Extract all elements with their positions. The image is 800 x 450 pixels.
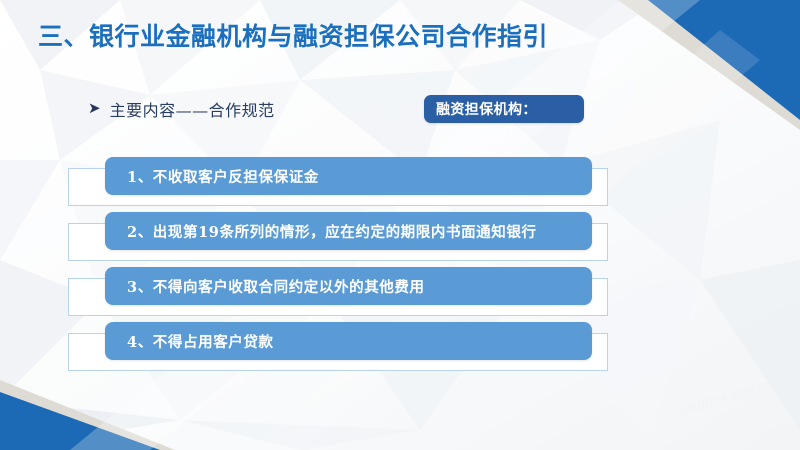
list-item[interactable]: 1、不收取客户反担保保证金	[68, 157, 608, 195]
list-item-label: 4、不得占用客户贷款	[127, 331, 274, 352]
item-list: 1、不收取客户反担保保证金 2、出现第19条所列的情形，应在约定的期限内书面通知…	[0, 0, 800, 450]
list-item-bar[interactable]: 2、出现第19条所列的情形，应在约定的期限内书面通知银行	[105, 212, 592, 250]
list-item-label: 1、不收取客户反担保保证金	[127, 166, 319, 187]
slide-canvas: 三、银行业金融机构与融资担保公司合作指引 ➤ 主要内容——合作规范 融资担保机构…	[0, 0, 800, 450]
list-item[interactable]: 3、不得向客户收取合同约定以外的其他费用	[68, 267, 608, 305]
list-item[interactable]: 4、不得占用客户贷款	[68, 322, 608, 360]
list-item-label: 2、出现第19条所列的情形，应在约定的期限内书面通知银行	[127, 221, 537, 242]
list-item[interactable]: 2、出现第19条所列的情形，应在约定的期限内书面通知银行	[68, 212, 608, 250]
list-item-bar[interactable]: 3、不得向客户收取合同约定以外的其他费用	[105, 267, 592, 305]
list-item-label: 3、不得向客户收取合同约定以外的其他费用	[127, 276, 425, 297]
list-item-bar[interactable]: 4、不得占用客户贷款	[105, 322, 592, 360]
list-item-bar[interactable]: 1、不收取客户反担保保证金	[105, 157, 592, 195]
